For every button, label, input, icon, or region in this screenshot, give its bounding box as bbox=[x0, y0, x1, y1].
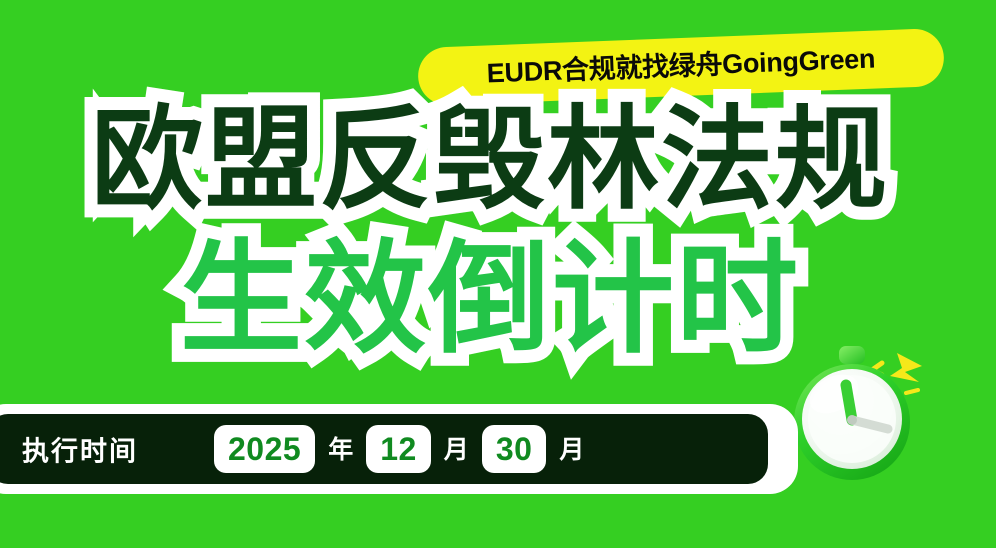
tagline-pill: EUDR合规就找绿舟GoingGreen bbox=[417, 28, 945, 106]
year-value-chip: 2025 bbox=[214, 425, 315, 473]
tagline-text: EUDR合规就找绿舟GoingGreen bbox=[486, 45, 875, 87]
stopwatch-crown bbox=[839, 346, 865, 364]
execution-date-label: 执行时间 bbox=[22, 430, 138, 469]
execution-date-bar: 执行时间 2025 年 12 月 30 月 bbox=[0, 404, 798, 494]
day-value-chip: 30 bbox=[482, 425, 547, 473]
execution-date-bar-inner: 执行时间 2025 年 12 月 30 月 bbox=[0, 414, 768, 484]
year-unit-label: 年 bbox=[315, 438, 366, 463]
month-unit-label: 月 bbox=[431, 438, 482, 463]
month-value-chip: 12 bbox=[366, 425, 431, 473]
day-unit-label: 月 bbox=[546, 438, 597, 463]
stopwatch-icon bbox=[786, 330, 936, 490]
promo-banner: EUDR合规就找绿舟GoingGreen 欧盟反毁林法规 生效倒计时 bbox=[0, 0, 996, 548]
headline-line-1: 欧盟反毁林法规 bbox=[0, 104, 988, 216]
